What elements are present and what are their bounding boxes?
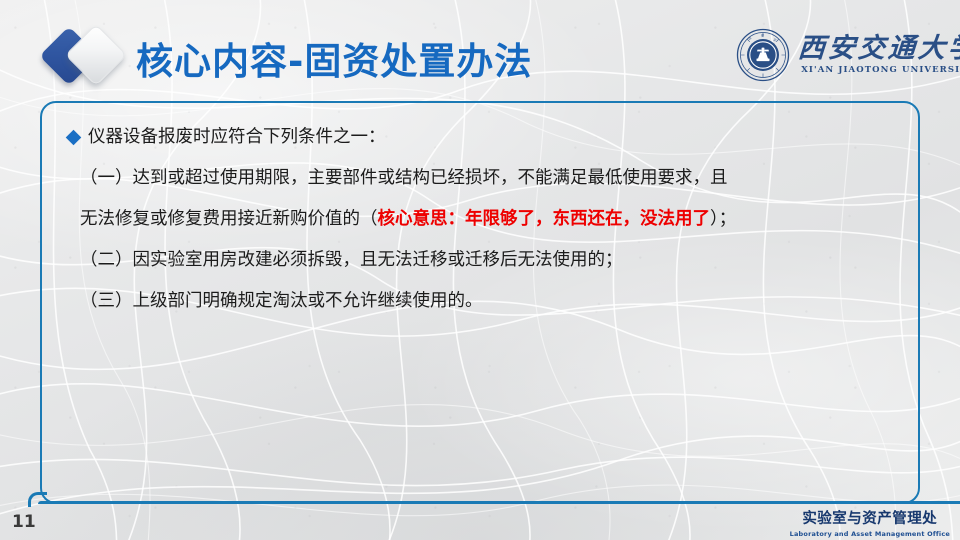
content-item-1-line-1: （一）达到或超过使用期限，主要部件或结构已经损坏，不能满足最低使用要求，且 [66,158,900,199]
content-item-3-line-1: （三）上级部门明确规定淘汰或不允许继续使用的。 [66,281,900,322]
content-item-1-emphasis-text: 核心意思：年限够了，东西还在，没法用了 [378,209,711,229]
university-name-en: XI'AN JIAOTONG UNIVERSITY [801,66,960,75]
content-item-1-line-2-prefix: 无法修复或修复费用接近新购价值的（ [80,209,378,229]
content-heading-text: 仪器设备报废时应符合下列条件之一： [88,117,386,158]
content-body: 仪器设备报废时应符合下列条件之一： （一）达到或超过使用期限，主要部件或结构已经… [66,117,900,322]
content-item-2-text: （二）因实验室用房改建必须拆毁，且无法迁移或迁移后无法使用的； [80,250,623,270]
content-panel: 仪器设备报废时应符合下列条件之一： （一）达到或超过使用期限，主要部件或结构已经… [40,101,920,504]
university-logo: 西 安 交 西安交通大学 XI'AN JIAOTONG UNIVERSITY [736,24,942,86]
university-name-cn: 西安交通大学 [797,35,960,62]
decorative-diamond-logo-icon [44,27,140,85]
content-item-1-line-1-text: （一）达到或超过使用期限，主要部件或结构已经损坏，不能满足最低使用要求，且 [80,168,728,188]
university-seal-icon: 西 安 交 [736,28,790,82]
svg-text:安: 安 [761,33,764,38]
content-item-1-line-2-suffix: ）； [710,209,736,229]
footer-divider [38,501,960,504]
slide-canvas: 核心内容-固资处置办法 [0,0,960,540]
university-wordmark: 西安交通大学 XI'AN JIAOTONG UNIVERSITY [798,35,960,75]
svg-text:西: 西 [747,36,752,41]
content-item-2-line-1: （二）因实验室用房改建必须拆毁，且无法迁移或迁移后无法使用的； [66,240,900,281]
footer-department-name-en: Laboratory and Asset Management Office [790,531,950,538]
content-item-1-line-2: 无法修复或修复费用接近新购价值的（核心意思：年限够了，东西还在，没法用了）； [66,199,900,240]
content-heading-row: 仪器设备报废时应符合下列条件之一： [66,117,900,158]
slide-header: 核心内容-固资处置办法 [0,0,960,98]
page-number: 11 [12,512,36,532]
footer-department-brand: 实验室与资产管理处 Laboratory and Asset Managemen… [790,512,950,537]
content-item-3-text: （三）上级部门明确规定淘汰或不允许继续使用的。 [80,291,483,311]
diamond-bullet-icon [66,130,82,146]
page-title: 核心内容-固资处置办法 [136,31,532,85]
footer-department-name-cn: 实验室与资产管理处 [790,512,950,527]
